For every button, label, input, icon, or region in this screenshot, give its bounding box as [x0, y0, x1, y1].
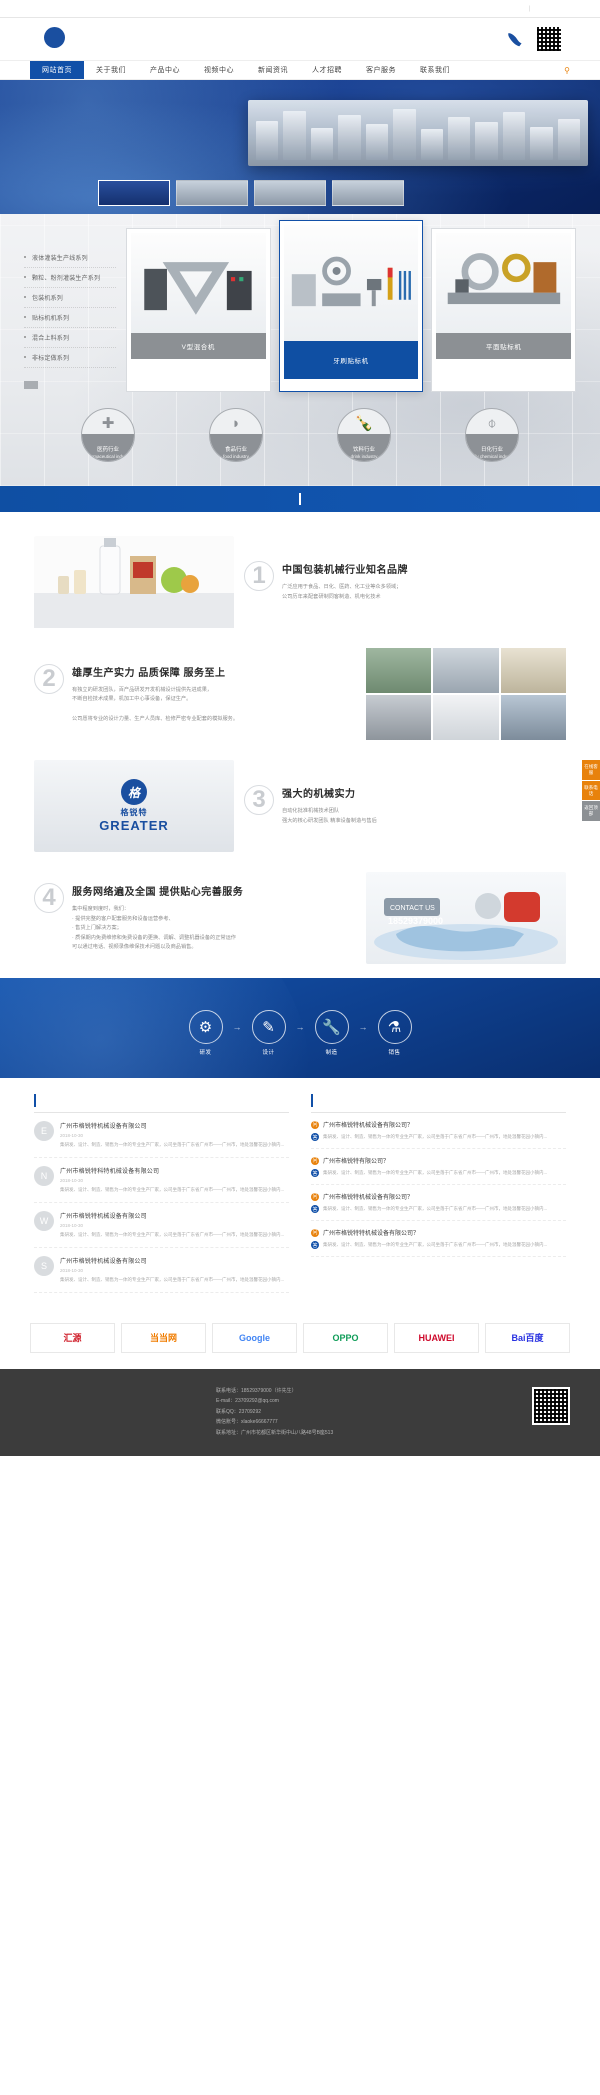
reason-number: 2: [34, 664, 64, 694]
reason-3: 格格锐特GREATER3强大的机械实力自动化批准机械技术团队 强大的核心研发团队…: [0, 750, 600, 862]
page-root: |: [0, 0, 600, 1456]
reason-body: 1中国包装机械行业知名品牌广泛应用于食品、日化、医药、化工业等众多领域； 公司历…: [244, 561, 566, 602]
industry-text: 饮料行业drink industry: [338, 447, 390, 459]
reason-text: 强大的机械实力自动化批准机械技术团队 强大的核心研发团队 精准设备制造与售后: [282, 785, 377, 826]
faq-answer-row: 答集研发、设计、制造、销售为一体的专业生产厂家，公司坐落于广东省广州市——广州市…: [311, 1241, 566, 1249]
footer-bottom: [0, 1448, 600, 1456]
partner-logo-3[interactable]: OPPO: [303, 1323, 388, 1353]
product-card-list: V型混合机牙刷贴标机平面贴标机: [126, 228, 576, 392]
tools-icon: 🔧: [315, 1010, 349, 1044]
faq-list: 问广州市格锐特机械设备有限公司？答集研发、设计、制造、销售为一体的专业生产厂家，…: [311, 1113, 566, 1257]
product-category-5[interactable]: 非标定做系列: [24, 348, 116, 368]
reasons-section: 1中国包装机械行业知名品牌广泛应用于食品、日化、医药、化工业等众多领域； 公司历…: [0, 512, 600, 978]
faq-question-text: 广州市格锐特特机械设备有限公司？: [323, 1228, 419, 1237]
floating-service-rail: 在线客服联系电话返回顶部: [582, 760, 600, 822]
nav-item-2[interactable]: 产品中心: [138, 61, 192, 79]
nav-item-4[interactable]: 新闻资讯: [246, 61, 300, 79]
about-step-3: ⚗销售: [378, 1010, 412, 1056]
about-step-0: ⚙研发: [189, 1010, 223, 1056]
news-letter-badge: N: [34, 1166, 54, 1186]
faq-question-badge: 问: [311, 1121, 319, 1129]
gear-icon: ⚙: [189, 1010, 223, 1044]
pump-bottle-icon: ⌽: [466, 416, 518, 431]
nav-item-0[interactable]: 网站首页: [30, 61, 84, 79]
topbar-divider: |: [528, 6, 530, 12]
faq-answer-badge: 答: [311, 1205, 319, 1213]
industry-2[interactable]: 🍾饮料行业drink industry: [337, 408, 391, 462]
industry-0[interactable]: ✚医药行业pharmaceutical industry: [81, 408, 135, 462]
rail-item-1[interactable]: 联系电话: [582, 781, 600, 801]
partner-logo-0[interactable]: 汇源: [30, 1323, 115, 1353]
industry-text: 食品行业food industry: [210, 447, 262, 459]
header-right: [506, 26, 570, 52]
product-card-caption: V型混合机: [131, 333, 266, 359]
faq-answer-badge: 答: [311, 1169, 319, 1177]
news-summary: 集研发、设计、制造、销售为一体的专业生产厂家，公司坐落于广东省广州市——广州市，…: [60, 1141, 289, 1149]
reason-media-factory: [366, 648, 566, 740]
industry-text: 医药行业pharmaceutical industry: [82, 447, 134, 459]
step-arrow-icon: →: [359, 1022, 368, 1032]
main-nav: 网站首页关于我们产品中心视频中心新闻资讯人才招聘客户服务联系我们 ⚲: [0, 60, 600, 80]
nav-item-1[interactable]: 关于我们: [84, 61, 138, 79]
faq-answer-text: 集研发、设计、制造、销售为一体的专业生产厂家，公司坐落于广东省广州市——广州市，…: [323, 1133, 547, 1141]
reason-body: 3强大的机械实力自动化批准机械技术团队 强大的核心研发团队 精准设备制造与售后: [244, 785, 566, 826]
nav-items: 网站首页关于我们产品中心视频中心新闻资讯人才招聘客户服务联系我们: [30, 61, 462, 79]
partner-logo-row: 汇源当当网GoogleOPPOHUAWEIBai百度: [0, 1323, 600, 1353]
faq-question-text: 广州市格锐特有限公司？: [323, 1156, 389, 1165]
partner-logo-4[interactable]: HUAWEI: [394, 1323, 479, 1353]
industry-1[interactable]: ◗食品行业food industry: [209, 408, 263, 462]
industry-label-en: pharmaceutical industry: [82, 454, 134, 459]
top-bar: |: [0, 0, 600, 18]
product-category-4[interactable]: 混合上料系列: [24, 328, 116, 348]
rail-item-0[interactable]: 在线客服: [582, 760, 600, 780]
industry-label-en: daily chemical industry: [466, 454, 518, 459]
about-step-1: ✎设计: [252, 1010, 286, 1056]
reason-text: 服务网络遍及全国 提供贴心完善服务集中程度到度时，我们： · 提供完整的客户配套…: [72, 883, 243, 953]
news-item-3[interactable]: S广州市格锐特机械设备有限公司2018-10-30集研发、设计、制造、销售为一体…: [34, 1248, 289, 1293]
faq-answer-text: 集研发、设计、制造、销售为一体的专业生产厂家，公司坐落于广东省广州市——广州市，…: [323, 1205, 547, 1213]
product-inner: 液体灌装生产线系列颗粒、粉剂灌装生产系列包装机系列贴标机机系列混合上料系列非标定…: [0, 228, 600, 392]
faq-answer-text: 集研发、设计、制造、销售为一体的专业生产厂家，公司坐落于广东省广州市——广州市，…: [323, 1241, 547, 1249]
industry-label-cn: 饮料行业: [338, 447, 390, 454]
product-category-list: 液体灌装生产线系列颗粒、粉剂灌装生产系列包装机系列贴标机机系列混合上料系列非标定…: [24, 248, 116, 368]
svg-text:CONTACT US: CONTACT US: [390, 905, 435, 912]
footer-contact-lines: 联系电话：18529379000（许先生）E-mail：23709292@qq.…: [216, 1383, 494, 1439]
reason-description: 集中程度到度时，我们： · 提供完整的客户配套服务和设备运营参考、 · 售货上门…: [72, 905, 243, 953]
partners-section: 汇源当当网GoogleOPPOHUAWEIBai百度: [0, 1303, 600, 1369]
news-list: E广州市格锐特机械设备有限公司2018-10-30集研发、设计、制造、销售为一体…: [34, 1113, 289, 1293]
news-letter-badge: W: [34, 1211, 54, 1231]
reason-title: 服务网络遍及全国 提供贴心完善服务: [72, 883, 243, 898]
news-summary: 集研发、设计、制造、销售为一体的专业生产厂家，公司坐落于广东省广州市——广州市，…: [60, 1186, 289, 1194]
nav-search[interactable]: ⚲: [519, 61, 570, 79]
news-faq-section: E广州市格锐特机械设备有限公司2018-10-30集研发、设计、制造、销售为一体…: [0, 1078, 600, 1303]
industry-circle: ✚医药行业pharmaceutical industry: [81, 408, 135, 462]
search-input[interactable]: [519, 67, 561, 73]
topbar-right: |: [523, 6, 568, 12]
reason-description: 有独立的研发团队，百产品研发开发机械设计提供先进成果， 不断自检技术成果，机加工…: [72, 686, 238, 725]
banner-machine-detail: [256, 106, 580, 160]
banner-thumb[interactable]: [98, 180, 170, 206]
bottle-icon: 🍾: [338, 416, 390, 431]
footer-qr-code: [532, 1387, 570, 1425]
about-step-label: 研发: [189, 1048, 223, 1056]
wechat-qr-code: [536, 26, 562, 52]
pencil-ruler-icon: ✎: [252, 1010, 286, 1044]
reason-number: 1: [244, 561, 274, 591]
partner-logo-2[interactable]: Google: [212, 1323, 297, 1353]
news-title: 广州市格锐特机械设备有限公司: [60, 1121, 289, 1130]
faq-column: 问广州市格锐特机械设备有限公司？答集研发、设计、制造、销售为一体的专业生产厂家，…: [311, 1094, 566, 1293]
reason-title: 强大的机械实力: [282, 785, 377, 800]
news-date: 2018-10-30: [60, 1133, 289, 1138]
reason-2: 2雄厚生产实力 品质保障 服务至上有独立的研发团队，百产品研发开发机械设计提供先…: [0, 638, 600, 750]
news-summary: 集研发、设计、制造、销售为一体的专业生产厂家，公司坐落于广东省广州市——广州市，…: [60, 1231, 289, 1239]
product-category-3[interactable]: 贴标机机系列: [24, 308, 116, 328]
news-date: 2018-10-30: [60, 1268, 289, 1273]
faq-item-0[interactable]: 问广州市格锐特机械设备有限公司？答集研发、设计、制造、销售为一体的专业生产厂家，…: [311, 1113, 566, 1149]
phone-icon: [506, 31, 524, 47]
product-card-image: [131, 233, 266, 333]
news-body: 广州市格锐特机械设备有限公司2018-10-30集研发、设计、制造、销售为一体的…: [60, 1211, 289, 1239]
news-column: E广州市格锐特机械设备有限公司2018-10-30集研发、设计、制造、销售为一体…: [34, 1094, 289, 1293]
faq-answer-badge: 答: [311, 1241, 319, 1249]
news-title: 广州市格锐特机械设备有限公司: [60, 1211, 289, 1220]
about-steps: ⚙研发→✎设计→🔧制造→⚗销售: [0, 1010, 600, 1056]
news-letter-badge: S: [34, 1256, 54, 1276]
news-item-2[interactable]: W广州市格锐特机械设备有限公司2018-10-30集研发、设计、制造、销售为一体…: [34, 1203, 289, 1248]
product-section: 液体灌装生产线系列颗粒、粉剂灌装生产系列包装机系列贴标机机系列混合上料系列非标定…: [0, 214, 600, 486]
news-body: 广州市格锐特科特机械设备有限公司2018-10-30集研发、设计、制造、销售为一…: [60, 1166, 289, 1194]
footer-line-2: 联系QQ：23709292: [216, 1407, 494, 1418]
industry-3[interactable]: ⌽日化行业daily chemical industry: [465, 408, 519, 462]
reason-media-cosmetics: [34, 536, 234, 628]
faq-item-2[interactable]: 问广州市格锐特机械设备有限公司？答集研发、设计、制造、销售为一体的专业生产厂家，…: [311, 1185, 566, 1221]
banner-thumb[interactable]: [332, 180, 404, 206]
reason-text: 雄厚生产实力 品质保障 服务至上有独立的研发团队，百产品研发开发机械设计提供先进…: [72, 664, 238, 725]
hero-banner: [0, 80, 600, 214]
reason-number: 3: [244, 785, 274, 815]
news-body: 广州市格锐特机械设备有限公司2018-10-30集研发、设计、制造、销售为一体的…: [60, 1121, 289, 1149]
hotline-block: [506, 31, 528, 47]
rail-item-2[interactable]: 返回顶部: [582, 801, 600, 821]
nav-item-3[interactable]: 视频中心: [192, 61, 246, 79]
footer-line-4: 联系地址：广州市花都区新华街中山八路48号B座513: [216, 1428, 494, 1439]
industry-label-cn: 医药行业: [82, 447, 134, 454]
footer-line-1: E-mail：23709292@qq.com: [216, 1396, 494, 1407]
product-card-1[interactable]: 牙刷贴标机: [279, 220, 424, 392]
reason-1: 1中国包装机械行业知名品牌广泛应用于食品、日化、医药、化工业等众多领域； 公司历…: [0, 526, 600, 638]
site-logo[interactable]: [44, 27, 65, 51]
product-category-1[interactable]: 颗粒、粉剂灌装生产系列: [24, 268, 116, 288]
news-date: 2018-10-30: [60, 1223, 289, 1228]
partner-logo-1[interactable]: 当当网: [121, 1323, 206, 1353]
site-footer: 联系电话：18529379000（许先生）E-mail：23709292@qq.…: [0, 1369, 600, 1449]
faq-question-badge: 问: [311, 1229, 319, 1237]
footer-qr-block: [510, 1383, 570, 1439]
reason-4: CONTACT US185293790004服务网络遍及全国 提供贴心完善服务集…: [0, 862, 600, 974]
reason-title: 雄厚生产实力 品质保障 服务至上: [72, 664, 238, 679]
product-card-2[interactable]: 平面贴标机: [431, 228, 576, 392]
product-category-0[interactable]: 液体灌装生产线系列: [24, 248, 116, 268]
industry-label-en: food industry: [210, 454, 262, 459]
news-header: [34, 1094, 289, 1113]
news-item-1[interactable]: N广州市格锐特科特机械设备有限公司2018-10-30集研发、设计、制造、销售为…: [34, 1158, 289, 1203]
site-header: [0, 18, 600, 60]
news-title: 广州市格锐特机械设备有限公司: [60, 1256, 289, 1265]
banner-thumbnails: [98, 180, 404, 206]
industry-text: 日化行业daily chemical industry: [466, 447, 518, 459]
product-card-caption: 牙刷贴标机: [284, 341, 419, 379]
reason-body: 4服务网络遍及全国 提供贴心完善服务集中程度到度时，我们： · 提供完整的客户配…: [34, 883, 356, 953]
pill-icon: ✚: [82, 416, 134, 431]
industry-label-cn: 日化行业: [466, 447, 518, 454]
reason-media-worldmap: CONTACT US18529379000: [366, 872, 566, 964]
news-letter-badge: E: [34, 1121, 54, 1141]
reason-description: 广泛应用于食品、日化、医药、化工业等众多领域； 公司历年来配套研制同客制造、机电…: [282, 583, 408, 602]
news-accent-bar: [34, 1094, 36, 1107]
industry-label-en: drink industry: [338, 454, 390, 459]
industry-circle: 🍾饮料行业drink industry: [337, 408, 391, 462]
news-title: 广州市格锐特科特机械设备有限公司: [60, 1166, 289, 1175]
news-summary: 集研发、设计、制造、销售为一体的专业生产厂家，公司坐落于广东省广州市——广州市，…: [60, 1276, 289, 1284]
step-arrow-icon: →: [233, 1022, 242, 1032]
faq-answer-row: 答集研发、设计、制造、销售为一体的专业生产厂家，公司坐落于广东省广州市——广州市…: [311, 1169, 566, 1177]
faq-question-row: 问广州市格锐特机械设备有限公司？: [311, 1120, 566, 1129]
why-choose-strip: [0, 486, 600, 512]
industry-list: ✚医药行业pharmaceutical industry◗食品行业food in…: [0, 392, 600, 462]
reason-description: 自动化批准机械技术团队 强大的核心研发团队 精准设备制造与售后: [282, 807, 377, 826]
faq-question-text: 广州市格锐特机械设备有限公司？: [323, 1120, 413, 1129]
about-step-label: 销售: [378, 1048, 412, 1056]
news-body: 广州市格锐特机械设备有限公司2018-10-30集研发、设计、制造、销售为一体的…: [60, 1256, 289, 1284]
nav-item-5[interactable]: 人才招聘: [300, 61, 354, 79]
faq-question-text: 广州市格锐特机械设备有限公司？: [323, 1192, 413, 1201]
step-arrow-icon: →: [296, 1022, 305, 1032]
product-sidebar: 液体灌装生产线系列颗粒、粉剂灌装生产系列包装机系列贴标机机系列混合上料系列非标定…: [24, 228, 116, 392]
reason-media-brandlogo: 格格锐特GREATER: [34, 760, 234, 852]
product-card-caption: 平面贴标机: [436, 333, 571, 359]
faq-answer-badge: 答: [311, 1133, 319, 1141]
svg-text:18529379000: 18529379000: [388, 916, 443, 926]
search-icon[interactable]: ⚲: [564, 66, 570, 75]
footer-company: [30, 1383, 200, 1439]
product-card-0[interactable]: V型混合机: [126, 228, 271, 392]
reason-text: 中国包装机械行业知名品牌广泛应用于食品、日化、医药、化工业等众多领域； 公司历年…: [282, 561, 408, 602]
industry-circle: ◗食品行业food industry: [209, 408, 263, 462]
footer-line-0: 联系电话：18529379000（许先生）: [216, 1386, 494, 1397]
banner-thumb[interactable]: [176, 180, 248, 206]
product-category-2[interactable]: 包装机系列: [24, 288, 116, 308]
faq-header: [311, 1094, 566, 1113]
faq-question-badge: 问: [311, 1157, 319, 1165]
reason-number: 4: [34, 883, 64, 913]
person-chart-icon: ⚗: [378, 1010, 412, 1044]
faq-accent-bar: [311, 1094, 313, 1107]
faq-question-row: 问广州市格锐特有限公司？: [311, 1156, 566, 1165]
reason-body: 2雄厚生产实力 品质保障 服务至上有独立的研发团队，百产品研发开发机械设计提供先…: [34, 664, 356, 725]
product-more-button[interactable]: [24, 381, 38, 389]
faq-answer-text: 集研发、设计、制造、销售为一体的专业生产厂家，公司坐落于广东省广州市——广州市，…: [323, 1169, 547, 1177]
banner-machine-image: [248, 100, 588, 166]
faq-question-row: 问广州市格锐特特机械设备有限公司？: [311, 1228, 566, 1237]
news-item-0[interactable]: E广州市格锐特机械设备有限公司2018-10-30集研发、设计、制造、销售为一体…: [34, 1113, 289, 1158]
about-step-label: 制造: [315, 1048, 349, 1056]
food-bag-icon: ◗: [210, 416, 262, 431]
why-divider: [299, 493, 301, 505]
reason-title: 中国包装机械行业知名品牌: [282, 561, 408, 576]
product-card-image: [284, 225, 419, 341]
banner-thumb[interactable]: [254, 180, 326, 206]
product-card-image: [436, 233, 571, 333]
about-step-label: 设计: [252, 1048, 286, 1056]
about-step-2: 🔧制造: [315, 1010, 349, 1056]
faq-item-1[interactable]: 问广州市格锐特有限公司？答集研发、设计、制造、销售为一体的专业生产厂家，公司坐落…: [311, 1149, 566, 1185]
footer-line-3: 微信账号：xlaoke66667777: [216, 1417, 494, 1428]
faq-answer-row: 答集研发、设计、制造、销售为一体的专业生产厂家，公司坐落于广东省广州市——广州市…: [311, 1133, 566, 1141]
news-date: 2018-10-30: [60, 1178, 289, 1183]
faq-question-row: 问广州市格锐特机械设备有限公司？: [311, 1192, 566, 1201]
about-section: ⚙研发→✎设计→🔧制造→⚗销售: [0, 978, 600, 1078]
nav-item-7[interactable]: 联系我们: [408, 61, 462, 79]
faq-question-badge: 问: [311, 1193, 319, 1201]
faq-item-3[interactable]: 问广州市格锐特特机械设备有限公司？答集研发、设计、制造、销售为一体的专业生产厂家…: [311, 1221, 566, 1257]
partner-logo-5[interactable]: Bai百度: [485, 1323, 570, 1353]
industry-circle: ⌽日化行业daily chemical industry: [465, 408, 519, 462]
faq-answer-row: 答集研发、设计、制造、销售为一体的专业生产厂家，公司坐落于广东省广州市——广州市…: [311, 1205, 566, 1213]
logo-mark-icon: [44, 27, 65, 48]
industry-label-cn: 食品行业: [210, 447, 262, 454]
nav-item-6[interactable]: 客户服务: [354, 61, 408, 79]
